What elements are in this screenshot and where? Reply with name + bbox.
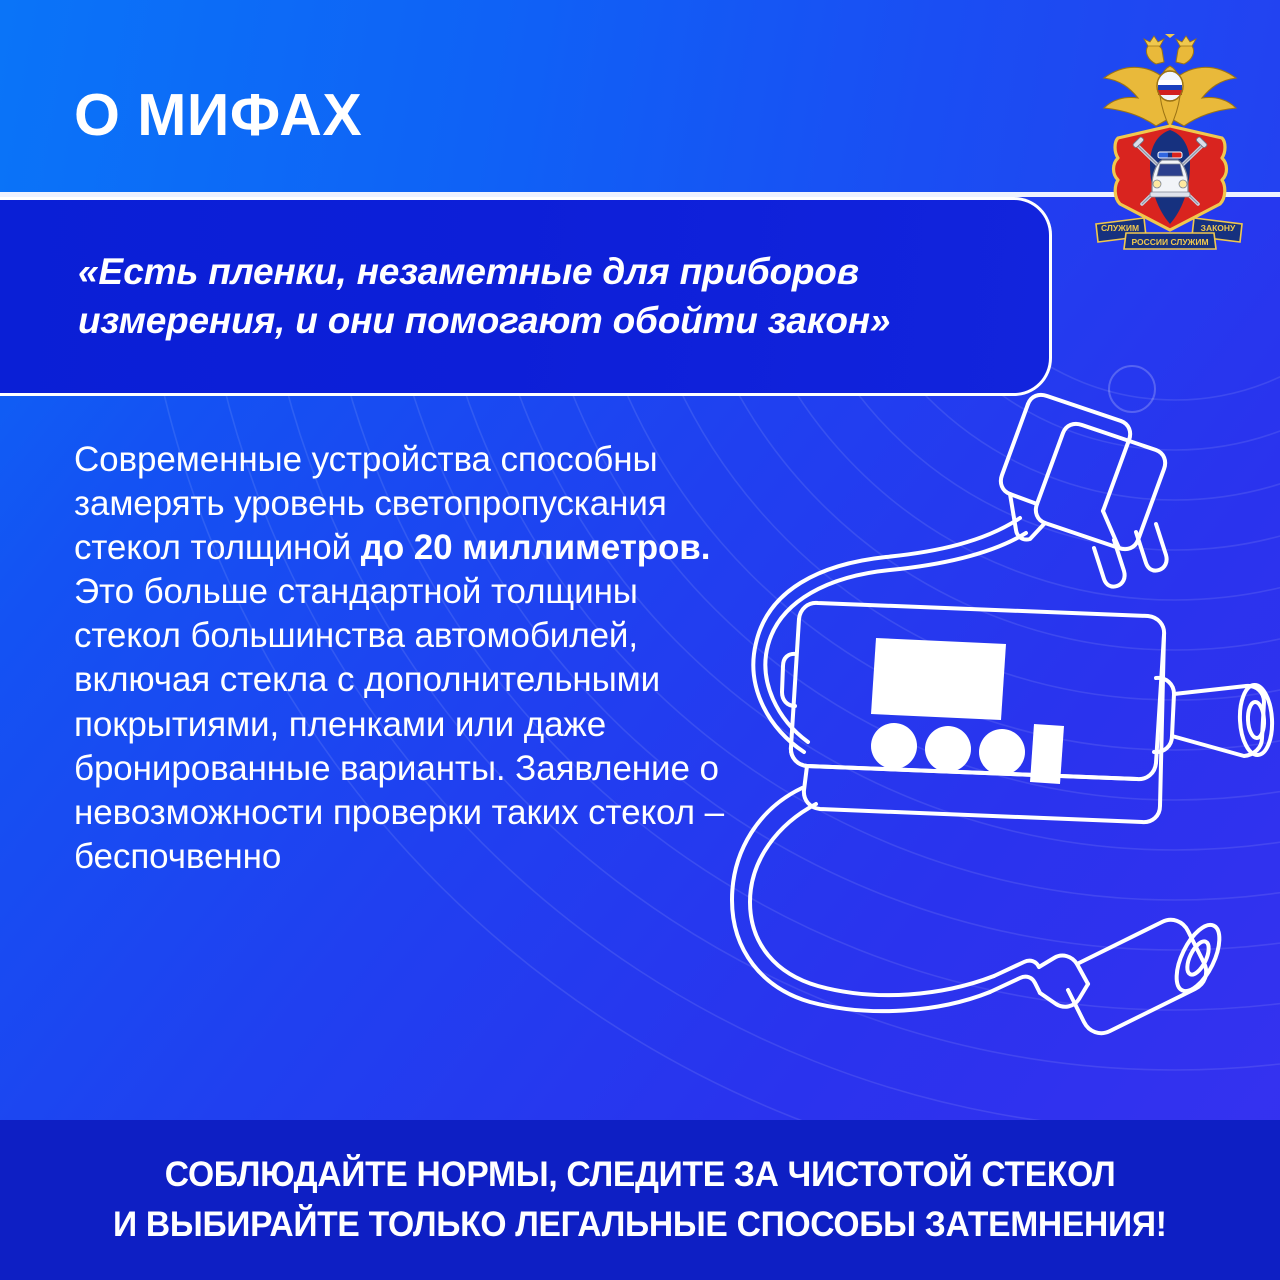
decorative-circle-icon: [1108, 365, 1156, 413]
power-adapter: [1001, 395, 1167, 587]
sensor-head-right: [1154, 678, 1274, 756]
cable-lower: [732, 788, 994, 1011]
sensor-head-bottom: [990, 919, 1228, 1034]
myth-quote-box: «Есть пленки, незаметные для приборов из…: [0, 197, 1052, 396]
svg-text:СЛУЖИМ: СЛУЖИМ: [1101, 223, 1139, 233]
footer-line-2: И ВЫБИРАЙТЕ ТОЛЬКО ЛЕГАЛЬНЫЕ СПОСОБЫ ЗАТ…: [113, 1200, 1167, 1250]
tint-meter-illustration: [690, 390, 1280, 1070]
body-text-part2: Это больше стандартной толщины стекол бо…: [74, 572, 724, 876]
meter-body: [782, 603, 1164, 822]
mvd-russia-emblem-icon: СЛУЖИМ ЗАКОНУ РОССИИ СЛУЖИМ: [1086, 34, 1254, 256]
cable: [753, 518, 1026, 752]
svg-text:РОССИИ СЛУЖИМ: РОССИИ СЛУЖИМ: [1131, 237, 1208, 247]
poster-root: О МИФАХ: [0, 0, 1280, 1280]
svg-text:ЗАКОНУ: ЗАКОНУ: [1201, 223, 1236, 233]
footer-line-1: СОБЛЮДАЙТЕ НОРМЫ, СЛЕДИТЕ ЗА ЧИСТОТОЙ СТ…: [165, 1150, 1116, 1200]
page-title: О МИФАХ: [74, 86, 362, 145]
display-and-indicators: [871, 638, 1064, 784]
body-paragraph: Современные устройства способны замерять…: [74, 438, 746, 879]
myth-quote-text: «Есть пленки, незаметные для приборов из…: [0, 248, 1049, 346]
body-text-highlight: до 20 миллиметров.: [361, 528, 711, 567]
footer-banner: СОБЛЮДАЙТЕ НОРМЫ, СЛЕДИТЕ ЗА ЧИСТОТОЙ СТ…: [0, 1120, 1280, 1280]
